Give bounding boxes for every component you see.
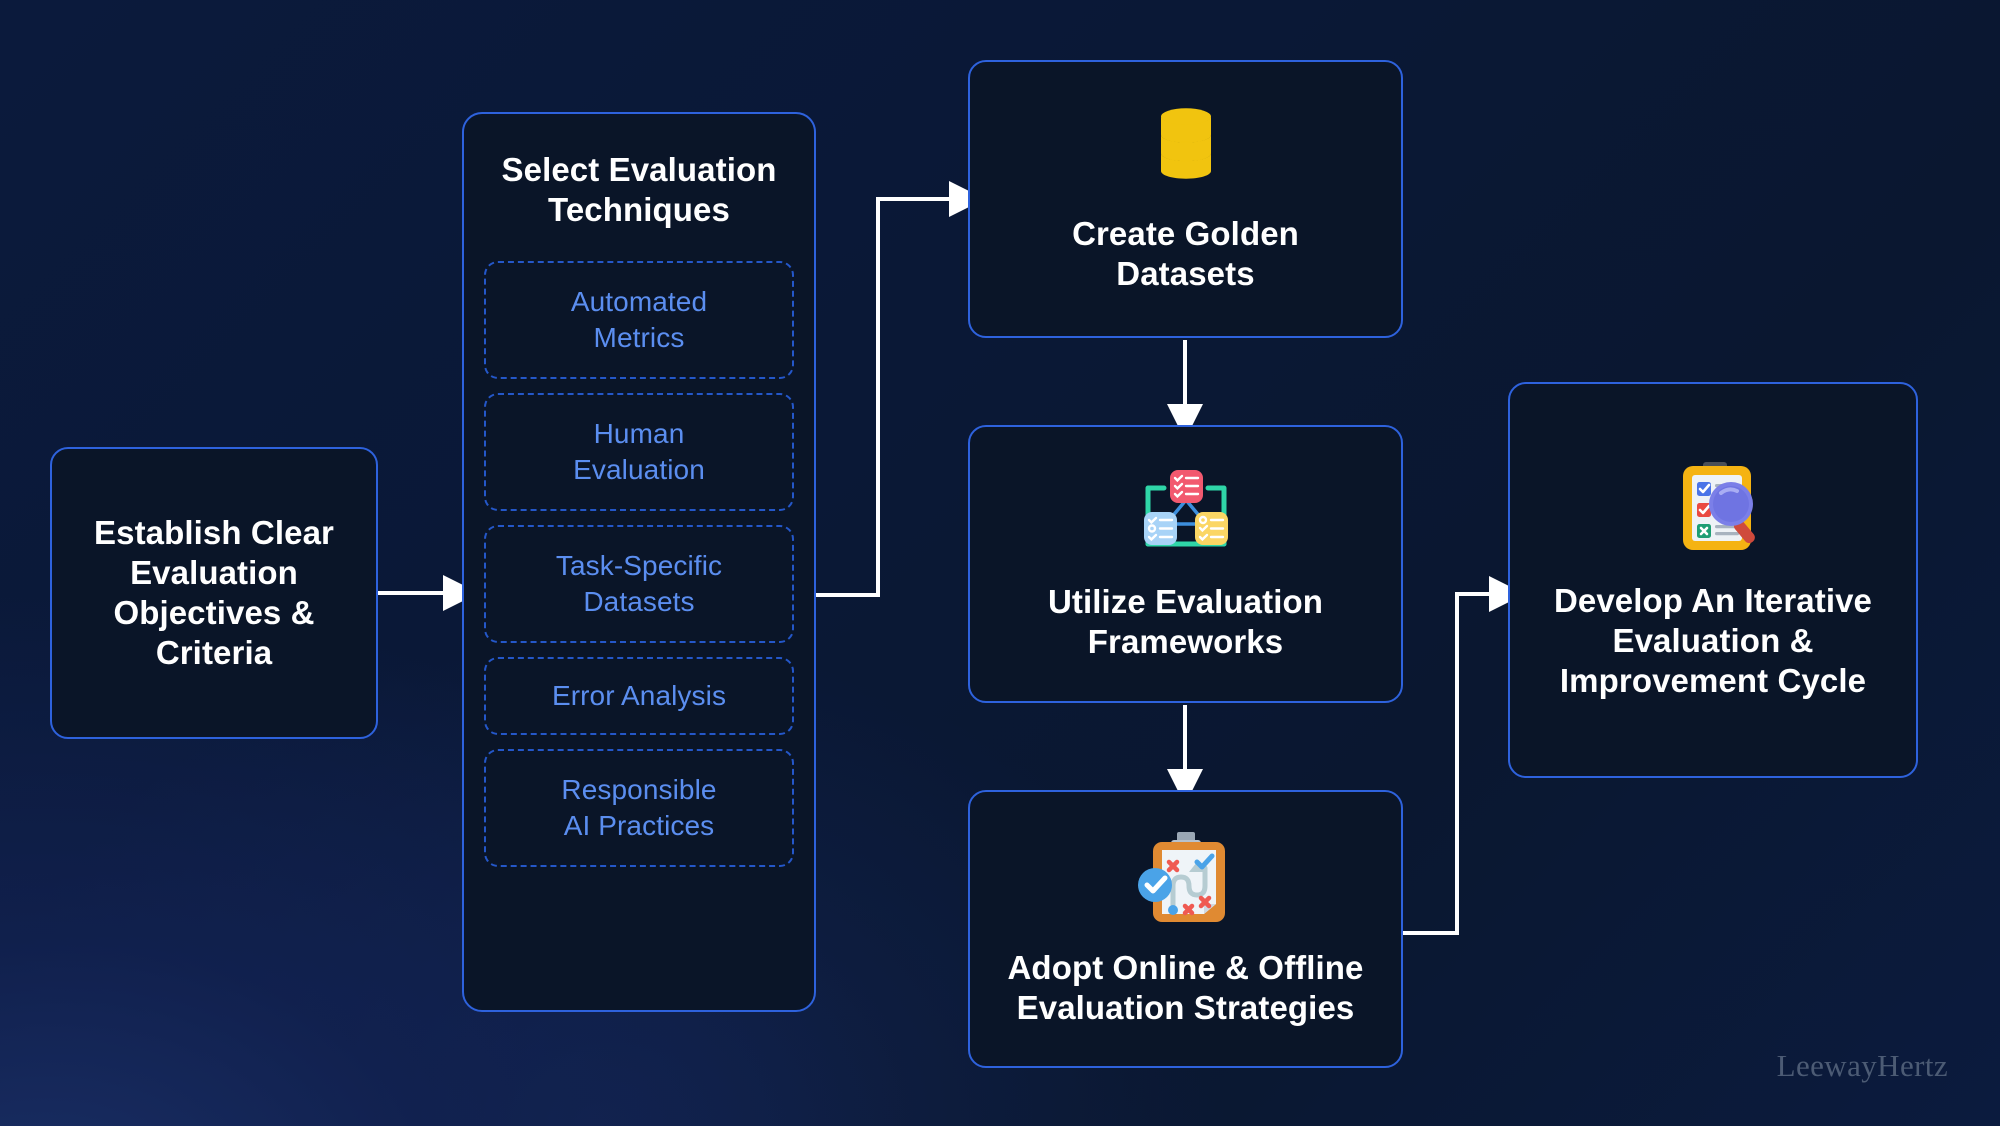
watermark-leewayhertz: LeewayHertz [1777, 1048, 1948, 1084]
node-adopt-label: Adopt Online & Offline Evaluation Strate… [1008, 948, 1364, 1029]
checklist-magnifier-icon [1659, 459, 1767, 565]
connector-select-to-golden [816, 199, 953, 595]
node-select-label: Select Evaluation Techniques [484, 150, 795, 231]
node-frameworks-label: Utilize Evaluation Frameworks [1048, 582, 1323, 663]
node-establish-objectives[interactable]: Establish Clear Evaluation Objectives & … [50, 447, 378, 739]
node-create-golden-datasets[interactable]: Create Golden Datasets [968, 60, 1403, 338]
technique-task-specific-datasets[interactable]: Task-Specific Datasets [484, 525, 794, 643]
node-utilize-frameworks[interactable]: Utilize Evaluation Frameworks [968, 425, 1403, 703]
node-develop-label: Develop An Iterative Evaluation & Improv… [1554, 581, 1872, 702]
node-develop-iterative-cycle[interactable]: Develop An Iterative Evaluation & Improv… [1508, 382, 1918, 778]
node-adopt-strategies[interactable]: Adopt Online & Offline Evaluation Strate… [968, 790, 1403, 1068]
evaluation-frameworks-icon [1134, 466, 1238, 566]
database-icon [1149, 104, 1223, 198]
technique-automated-metrics[interactable]: Automated Metrics [484, 261, 794, 379]
node-select-techniques[interactable]: Select Evaluation Techniques Automated M… [462, 112, 816, 1012]
strategy-clipboard-icon [1135, 830, 1237, 932]
node-establish-label: Establish Clear Evaluation Objectives & … [94, 513, 334, 674]
technique-responsible-ai-practices[interactable]: Responsible AI Practices [484, 749, 794, 867]
technique-error-analysis[interactable]: Error Analysis [484, 657, 794, 735]
technique-list: Automated Metrics Human Evaluation Task-… [464, 261, 814, 867]
diagram-canvas: Establish Clear Evaluation Objectives & … [0, 0, 2000, 1126]
connector-adopt-to-develop [1403, 594, 1493, 933]
node-golden-label: Create Golden Datasets [1072, 214, 1299, 295]
technique-human-evaluation[interactable]: Human Evaluation [484, 393, 794, 511]
